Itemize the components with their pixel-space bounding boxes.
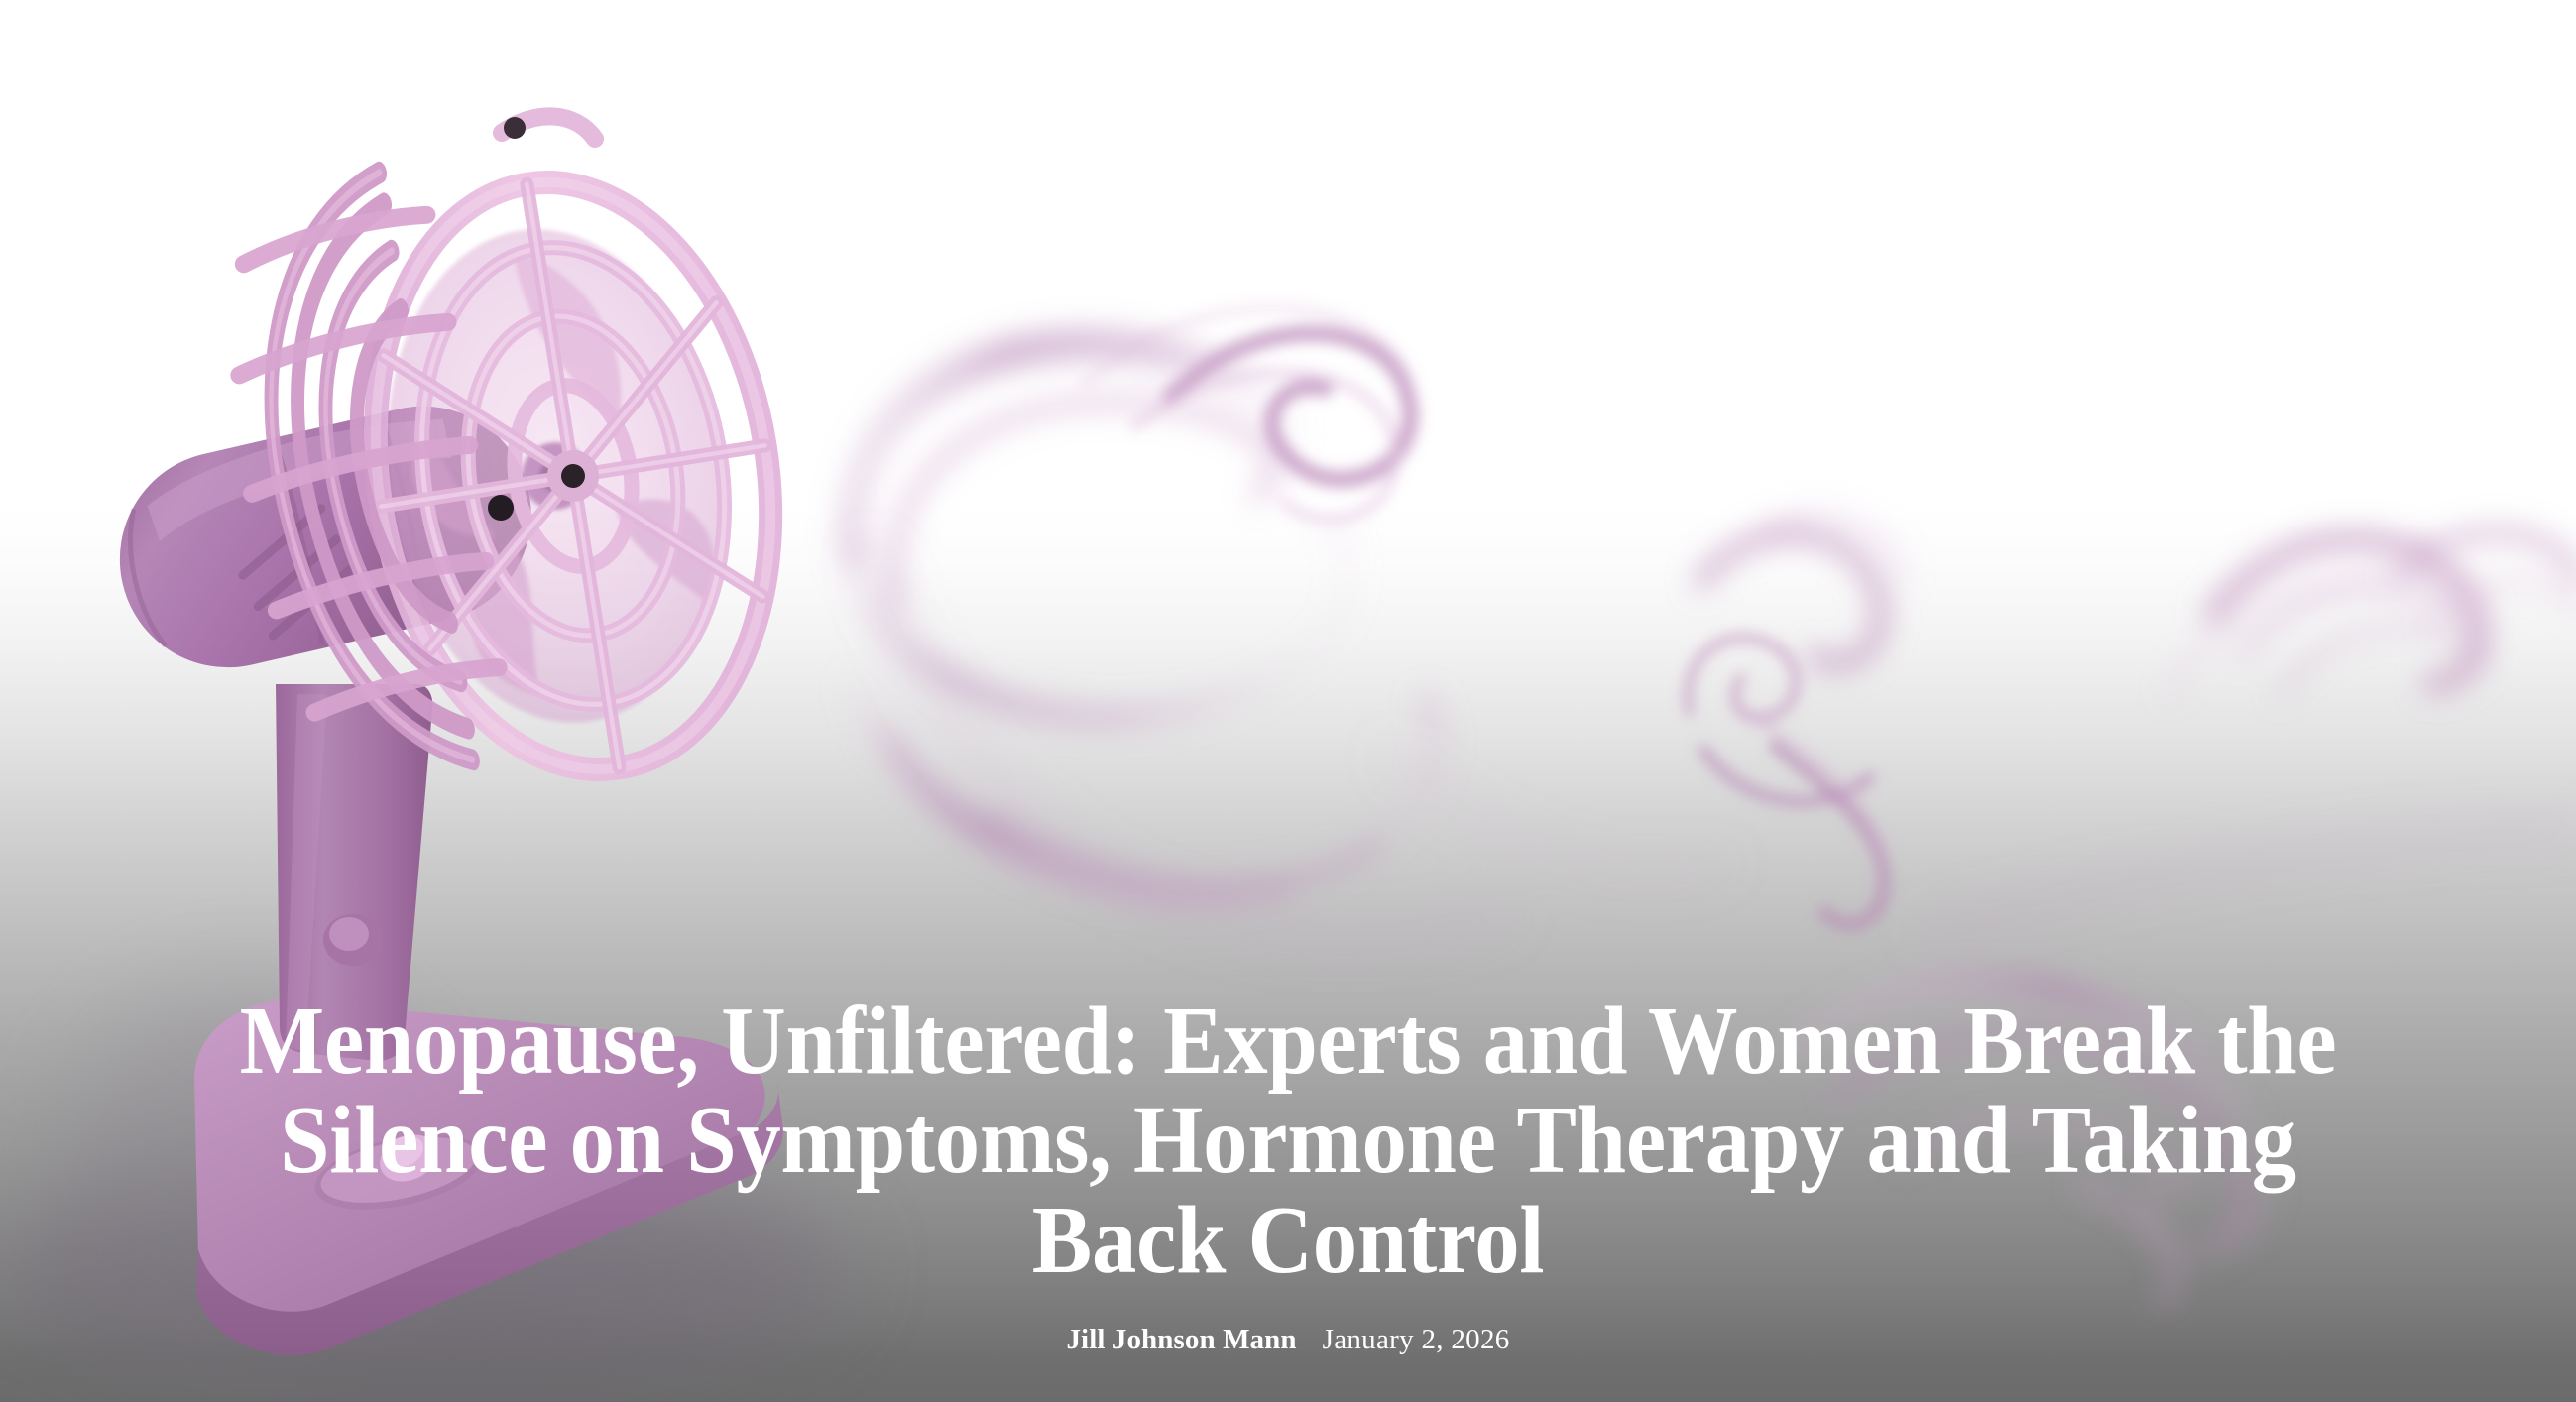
byline-author[interactable]: Jill Johnson Mann bbox=[1066, 1324, 1296, 1356]
hero-text-block: Menopause, Unfiltered: Experts and Women… bbox=[0, 992, 2576, 1402]
page-title: Menopause, Unfiltered: Experts and Women… bbox=[176, 992, 2400, 1290]
article-hero-banner: Menopause, Unfiltered: Experts and Women… bbox=[0, 0, 2576, 1402]
byline-date: January 2, 2026 bbox=[1323, 1324, 1510, 1356]
byline: Jill Johnson Mann January 2, 2026 bbox=[0, 1324, 2576, 1356]
